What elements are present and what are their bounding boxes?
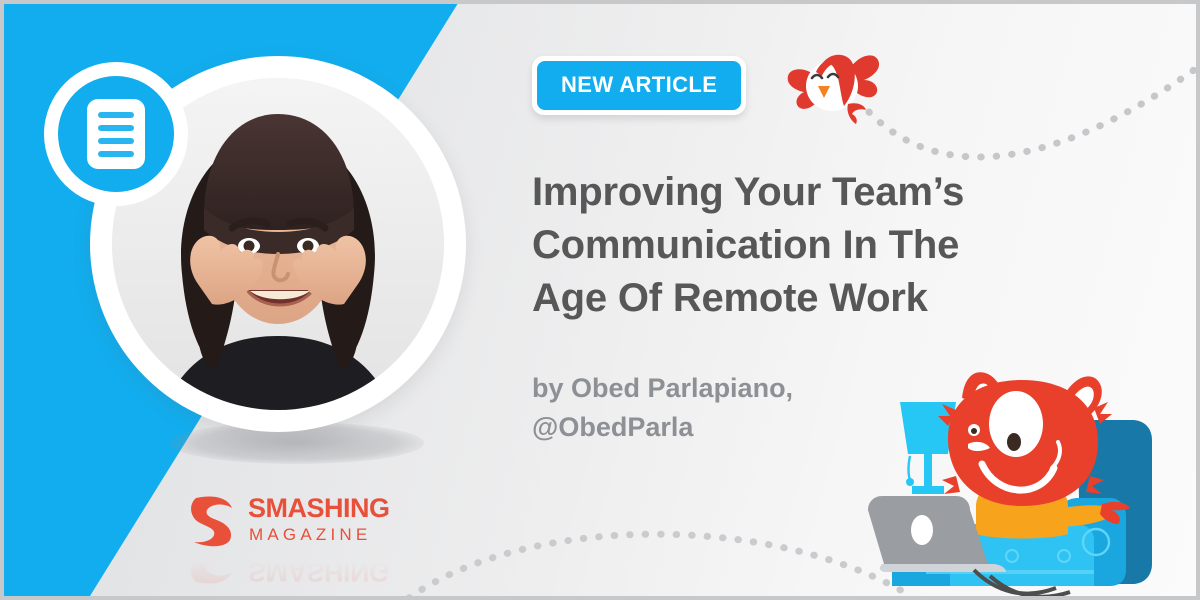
logo-subword: MAGAZINE: [249, 525, 371, 544]
cat-mascot-icon: [864, 364, 1196, 596]
title-line-1: Improving Your Team’s: [532, 166, 1092, 219]
smashing-magazine-logo: SMASHING MAGAZINE SMASHING MAGAZINE: [180, 490, 392, 548]
bird-mascot-icon: [782, 42, 886, 130]
title-line-3: Age Of Remote Work: [532, 272, 1092, 325]
svg-text:SMASHING: SMASHING: [248, 557, 390, 587]
new-article-badge-label: NEW ARTICLE: [537, 61, 741, 110]
social-share-card: NEW ARTICLE Improving Your Team’s Commun…: [0, 0, 1200, 600]
document-icon: [58, 76, 174, 192]
page-title: Improving Your Team’s Communication In T…: [532, 166, 1092, 326]
title-line-2: Communication In The: [532, 219, 1092, 272]
document-sheet: [87, 99, 145, 169]
logo-wordmark: SMASHING: [248, 493, 390, 523]
logo-reflection: SMASHING MAGAZINE: [180, 548, 392, 590]
new-article-badge[interactable]: NEW ARTICLE: [532, 56, 746, 115]
